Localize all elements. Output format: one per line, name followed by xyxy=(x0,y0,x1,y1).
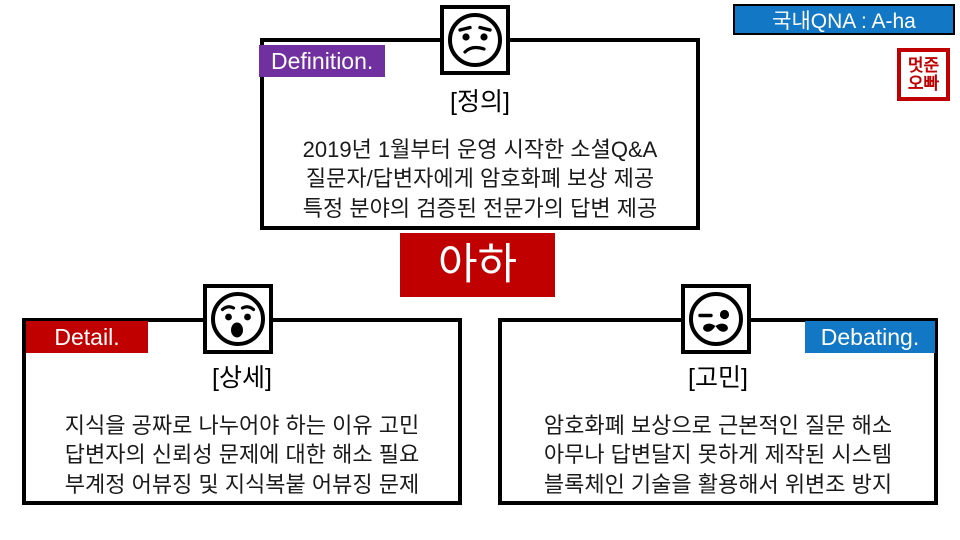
panel-detail-line-3: 부계정 어뷰징 및 지식복붙 어뷰징 문제 xyxy=(26,470,458,499)
panel-detail-line-2: 답변자의 신뢰성 문제에 대한 해소 필요 xyxy=(26,440,458,469)
panel-detail-subtitle: [상세] xyxy=(26,366,458,391)
author-stamp-line-1: 멋준 xyxy=(908,57,939,75)
category-label-detail-text: Detail. xyxy=(54,324,119,351)
category-label-debating[interactable]: Debating. xyxy=(805,321,935,353)
panel-definition-lines: 2019년 1월부터 운영 시작한 소셜Q&A 질문자/답변자에게 암호화폐 보… xyxy=(264,135,696,223)
panel-debating-subtitle: [고민] xyxy=(502,366,934,391)
category-label-debating-text: Debating. xyxy=(821,324,919,351)
brand-logo-text: 아하 xyxy=(438,244,517,287)
panel-debating-line-2: 아무나 답변달지 못하게 제작된 시스템 xyxy=(502,440,934,469)
category-label-definition-text: Definition. xyxy=(271,48,373,75)
category-label-definition[interactable]: Definition. xyxy=(259,45,385,77)
panel-detail-line-1: 지식을 공짜로 나누어야 하는 이유 고민 xyxy=(26,411,458,440)
panel-debating-line-3: 블록체인 기술을 활용해서 위변조 방지 xyxy=(502,470,934,499)
panel-definition-line-1: 2019년 1월부터 운영 시작한 소셜Q&A xyxy=(264,135,696,164)
surprised-face-icon xyxy=(203,284,273,354)
header-title-badge: 국내QNA : A-ha xyxy=(733,4,955,35)
panel-debating-line-1: 암호화폐 보상으로 근본적인 질문 해소 xyxy=(502,411,934,440)
slide-canvas: 국내QNA : A-ha 멋준 오빠 [정의] 2019년 1월부터 운영 시작… xyxy=(0,0,960,540)
category-label-detail[interactable]: Detail. xyxy=(26,321,148,353)
mustache-wink-face-icon xyxy=(681,284,751,354)
author-stamp-line-2: 오빠 xyxy=(908,75,939,93)
panel-definition-subtitle: [정의] xyxy=(264,90,696,115)
frowning-face-icon xyxy=(440,5,510,75)
panel-debating-lines: 암호화폐 보상으로 근본적인 질문 해소 아무나 답변달지 못하게 제작된 시스… xyxy=(502,411,934,499)
panel-detail-lines: 지식을 공짜로 나누어야 하는 이유 고민 답변자의 신뢰성 문제에 대한 해소… xyxy=(26,411,458,499)
header-title-text: 국내QNA : A-ha xyxy=(772,5,916,35)
panel-definition-line-2: 질문자/답변자에게 암호화폐 보상 제공 xyxy=(264,164,696,193)
brand-logo: 아하 xyxy=(400,233,555,297)
panel-definition-line-3: 특정 분야의 검증된 전문가의 답변 제공 xyxy=(264,194,696,223)
author-stamp: 멋준 오빠 xyxy=(897,48,950,101)
